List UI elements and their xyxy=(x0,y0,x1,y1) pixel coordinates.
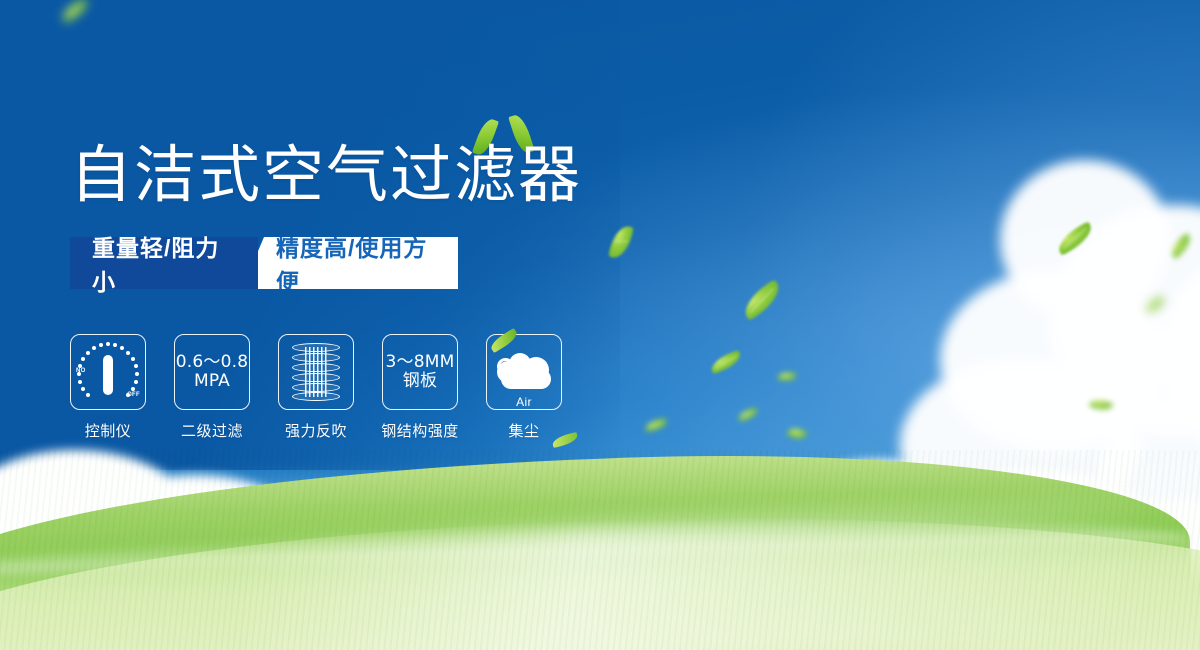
air-text: Air xyxy=(495,395,553,409)
feature-item-control[interactable]: NO OFF 控制仪 xyxy=(70,334,146,441)
cloud-ring-detail xyxy=(497,358,514,375)
filter-cartridge-icon xyxy=(278,334,354,410)
steel-plate-text-icon: 3〜8MM 钢板 xyxy=(382,334,458,410)
feature-item-dust[interactable]: Air 集尘 xyxy=(486,334,562,441)
feature-item-steel[interactable]: 3〜8MM 钢板 钢结构强度 xyxy=(382,334,458,441)
gauge-off-label: OFF xyxy=(127,392,140,398)
gauge-needle xyxy=(103,355,113,395)
feature-list: NO OFF 控制仪 0.6〜0.8 MPA 二级过滤 xyxy=(70,334,562,441)
steel-text: 3〜8MM 钢板 xyxy=(386,353,455,391)
feature-label: 强力反吹 xyxy=(285,420,347,441)
pressure-text-icon: 0.6〜0.8 MPA xyxy=(174,334,250,410)
page-title: 自洁式空气过滤器 xyxy=(70,144,582,206)
feature-label: 钢结构强度 xyxy=(381,420,459,441)
pressure-unit: MPA xyxy=(176,372,248,391)
feature-item-pressure[interactable]: 0.6〜0.8 MPA 二级过滤 xyxy=(174,334,250,441)
feature-label: 控制仪 xyxy=(85,420,132,441)
gauge-graphic: NO OFF xyxy=(77,342,139,402)
cartridge-graphic xyxy=(292,343,340,401)
subtitle-left: 重量轻/阻力小 xyxy=(70,237,258,289)
pressure-range: 0.6〜0.8 xyxy=(176,352,248,372)
cloud-air-icon: Air xyxy=(486,334,562,410)
grass-texture xyxy=(0,450,1200,650)
pressure-text: 0.6〜0.8 MPA xyxy=(176,353,248,391)
grass-field xyxy=(0,450,1200,650)
feature-item-backblow[interactable]: 强力反吹 xyxy=(278,334,354,441)
gauge-dial-icon: NO OFF xyxy=(70,334,146,410)
subtitle-right: 精度高/使用方便 xyxy=(242,237,458,289)
feature-label: 集尘 xyxy=(508,420,539,441)
steel-thickness: 3〜8MM xyxy=(386,352,455,372)
product-banner: 自洁式空气过滤器 重量轻/阻力小 精度高/使用方便 xyxy=(0,0,1200,650)
gauge-on-label: NO xyxy=(76,368,86,374)
steel-material: 钢板 xyxy=(386,372,455,391)
subtitle-bar: 重量轻/阻力小 精度高/使用方便 xyxy=(70,237,458,289)
cloud-graphic: Air xyxy=(495,349,553,395)
feature-label: 二级过滤 xyxy=(181,420,243,441)
